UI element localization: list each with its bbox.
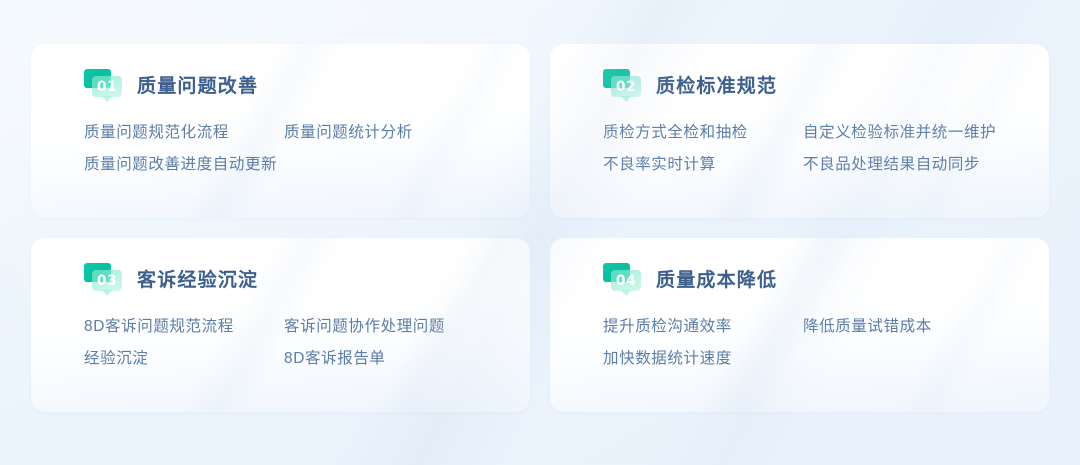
card-title: 质量成本降低 — [656, 271, 777, 290]
feature-item: 提升质检沟通效率 — [603, 319, 803, 335]
feature-card-01[interactable]: 01 质量问题改善 质量问题规范化流程 质量问题统计分析 质量问题改善进度自动更… — [31, 44, 530, 218]
page-root: 01 质量问题改善 质量问题规范化流程 质量问题统计分析 质量问题改善进度自动更… — [0, 0, 1080, 465]
card-title: 客诉经验沉淀 — [137, 271, 258, 290]
feature-item: 客诉问题协作处理问题 — [284, 319, 445, 335]
feature-card-04[interactable]: 04 质量成本降低 提升质检沟通效率 降低质量试错成本 加快数据统计速度 — [550, 238, 1049, 412]
number-badge-icon: 02 — [603, 69, 641, 103]
feature-row: 不良率实时计算 不良品处理结果自动同步 — [603, 149, 1023, 181]
feature-item: 8D客诉问题规范流程 — [84, 319, 284, 335]
feature-item: 不良品处理结果自动同步 — [803, 157, 980, 173]
feature-row: 提升质检沟通效率 降低质量试错成本 — [603, 311, 1023, 343]
feature-item: 降低质量试错成本 — [803, 319, 932, 335]
number-badge-icon: 01 — [84, 69, 122, 103]
card-title: 质量问题改善 — [137, 77, 258, 96]
feature-item: 质检方式全检和抽检 — [603, 125, 803, 141]
feature-item: 不良率实时计算 — [603, 157, 803, 173]
number-badge-icon: 04 — [603, 263, 641, 297]
badge-number: 03 — [92, 270, 122, 291]
badge-number: 02 — [611, 76, 641, 97]
feature-item: 质量问题改善进度自动更新 — [84, 157, 284, 173]
feature-row: 加快数据统计速度 — [603, 343, 1023, 375]
number-badge-icon: 03 — [84, 263, 122, 297]
card-header: 04 质量成本降低 — [603, 260, 1023, 300]
feature-item: 自定义检验标准并统一维护 — [803, 125, 996, 141]
card-title: 质检标准规范 — [656, 77, 777, 96]
feature-row: 质量问题改善进度自动更新 — [84, 149, 504, 181]
feature-list: 质量问题规范化流程 质量问题统计分析 质量问题改善进度自动更新 — [84, 117, 504, 181]
feature-item: 加快数据统计速度 — [603, 351, 803, 367]
feature-list: 质检方式全检和抽检 自定义检验标准并统一维护 不良率实时计算 不良品处理结果自动… — [603, 117, 1023, 181]
feature-row: 经验沉淀 8D客诉报告单 — [84, 343, 504, 375]
feature-row: 8D客诉问题规范流程 客诉问题协作处理问题 — [84, 311, 504, 343]
feature-list: 8D客诉问题规范流程 客诉问题协作处理问题 经验沉淀 8D客诉报告单 — [84, 311, 504, 375]
badge-number: 04 — [611, 270, 641, 291]
feature-card-03[interactable]: 03 客诉经验沉淀 8D客诉问题规范流程 客诉问题协作处理问题 经验沉淀 8D客… — [31, 238, 530, 412]
badge-number: 01 — [92, 76, 122, 97]
feature-card-grid: 01 质量问题改善 质量问题规范化流程 质量问题统计分析 质量问题改善进度自动更… — [31, 44, 1049, 412]
card-header: 01 质量问题改善 — [84, 66, 504, 106]
feature-item: 经验沉淀 — [84, 351, 284, 367]
feature-item: 质量问题统计分析 — [284, 125, 413, 141]
feature-list: 提升质检沟通效率 降低质量试错成本 加快数据统计速度 — [603, 311, 1023, 375]
feature-card-02[interactable]: 02 质检标准规范 质检方式全检和抽检 自定义检验标准并统一维护 不良率实时计算… — [550, 44, 1049, 218]
feature-item: 质量问题规范化流程 — [84, 125, 284, 141]
card-header: 02 质检标准规范 — [603, 66, 1023, 106]
feature-row: 质量问题规范化流程 质量问题统计分析 — [84, 117, 504, 149]
feature-row: 质检方式全检和抽检 自定义检验标准并统一维护 — [603, 117, 1023, 149]
feature-item: 8D客诉报告单 — [284, 351, 386, 367]
card-header: 03 客诉经验沉淀 — [84, 260, 504, 300]
